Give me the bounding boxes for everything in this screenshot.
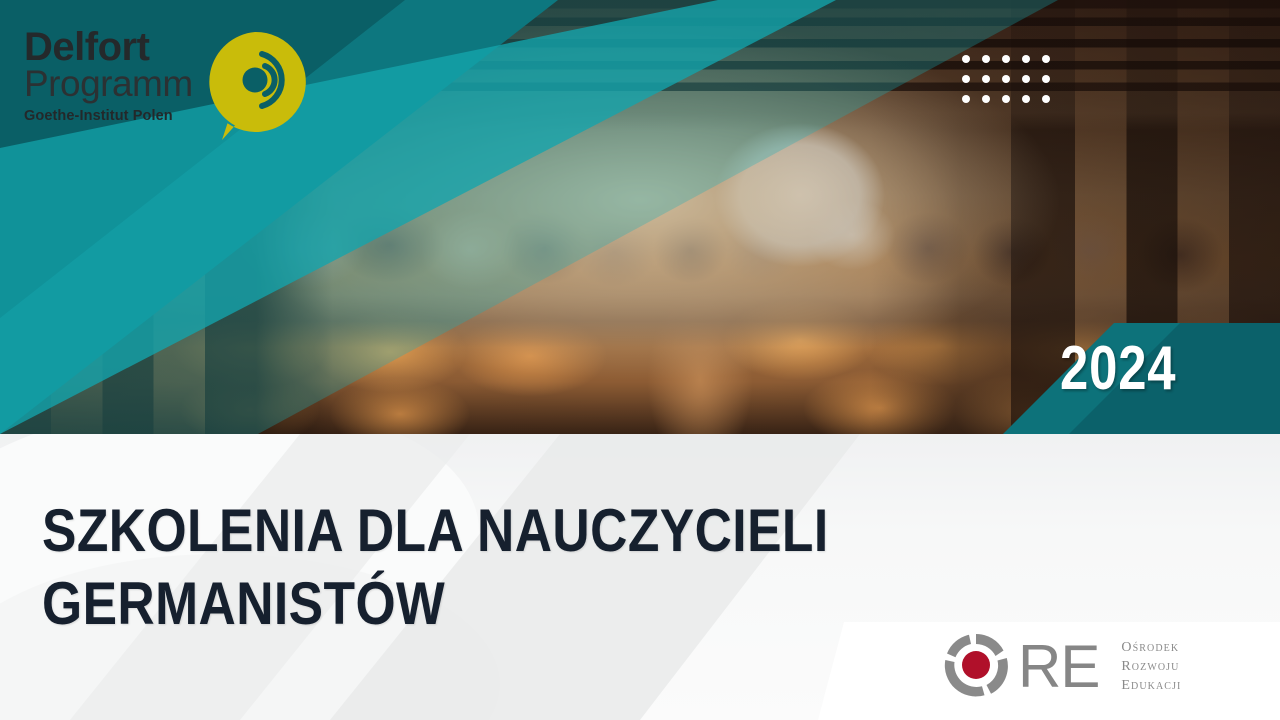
- delfort-logo-wordmark: Delfort Programm Goethe-Institut Polen: [24, 28, 200, 124]
- hero-banner: 2024 Delfort Programm Goethe-Institut Po…: [0, 0, 1280, 434]
- poster-canvas: 2024 Delfort Programm Goethe-Institut Po…: [0, 0, 1280, 720]
- grid-dot: [1002, 95, 1010, 103]
- grid-dot: [962, 55, 970, 63]
- delfort-logo-subtitle: Programm: [24, 65, 200, 102]
- grid-dot: [982, 55, 990, 63]
- delfort-logo[interactable]: Delfort Programm Goethe-Institut Polen: [24, 28, 314, 138]
- grid-dot: [962, 75, 970, 83]
- grid-dot: [982, 75, 990, 83]
- dot-grid-decoration: [962, 55, 1050, 103]
- grid-dot: [1042, 75, 1050, 83]
- ore-logo-letters: RE: [1018, 637, 1099, 697]
- grid-dot: [1002, 75, 1010, 83]
- delfort-logo-footer: Goethe-Institut Polen: [24, 108, 200, 124]
- ore-tagline-line-3: Edukacji: [1121, 679, 1181, 693]
- ore-tagline-line-2: Rozwoju: [1121, 660, 1181, 674]
- grid-dot: [1022, 75, 1030, 83]
- grid-dot: [1022, 55, 1030, 63]
- grid-dot: [1022, 95, 1030, 103]
- ore-tagline-line-1: Ośrodek: [1121, 641, 1181, 655]
- grid-dot: [1042, 55, 1050, 63]
- speech-bubble-circle-icon: [202, 30, 308, 142]
- ore-ring-dot-icon: [940, 629, 1012, 706]
- grid-dot: [1002, 55, 1010, 63]
- grid-dot: [982, 95, 990, 103]
- ore-logo[interactable]: RE Ośrodek Rozwoju Edukacji: [940, 628, 1210, 706]
- ore-logo-tagline: Ośrodek Rozwoju Edukacji: [1121, 641, 1181, 693]
- delfort-logo-title: Delfort: [24, 28, 200, 67]
- page-title: SZKOLENIA DLA NAUCZYCIELI GERMANISTÓW: [42, 494, 829, 640]
- year-badge-label: 2024: [1060, 338, 1176, 400]
- grid-dot: [962, 95, 970, 103]
- grid-dot: [1042, 95, 1050, 103]
